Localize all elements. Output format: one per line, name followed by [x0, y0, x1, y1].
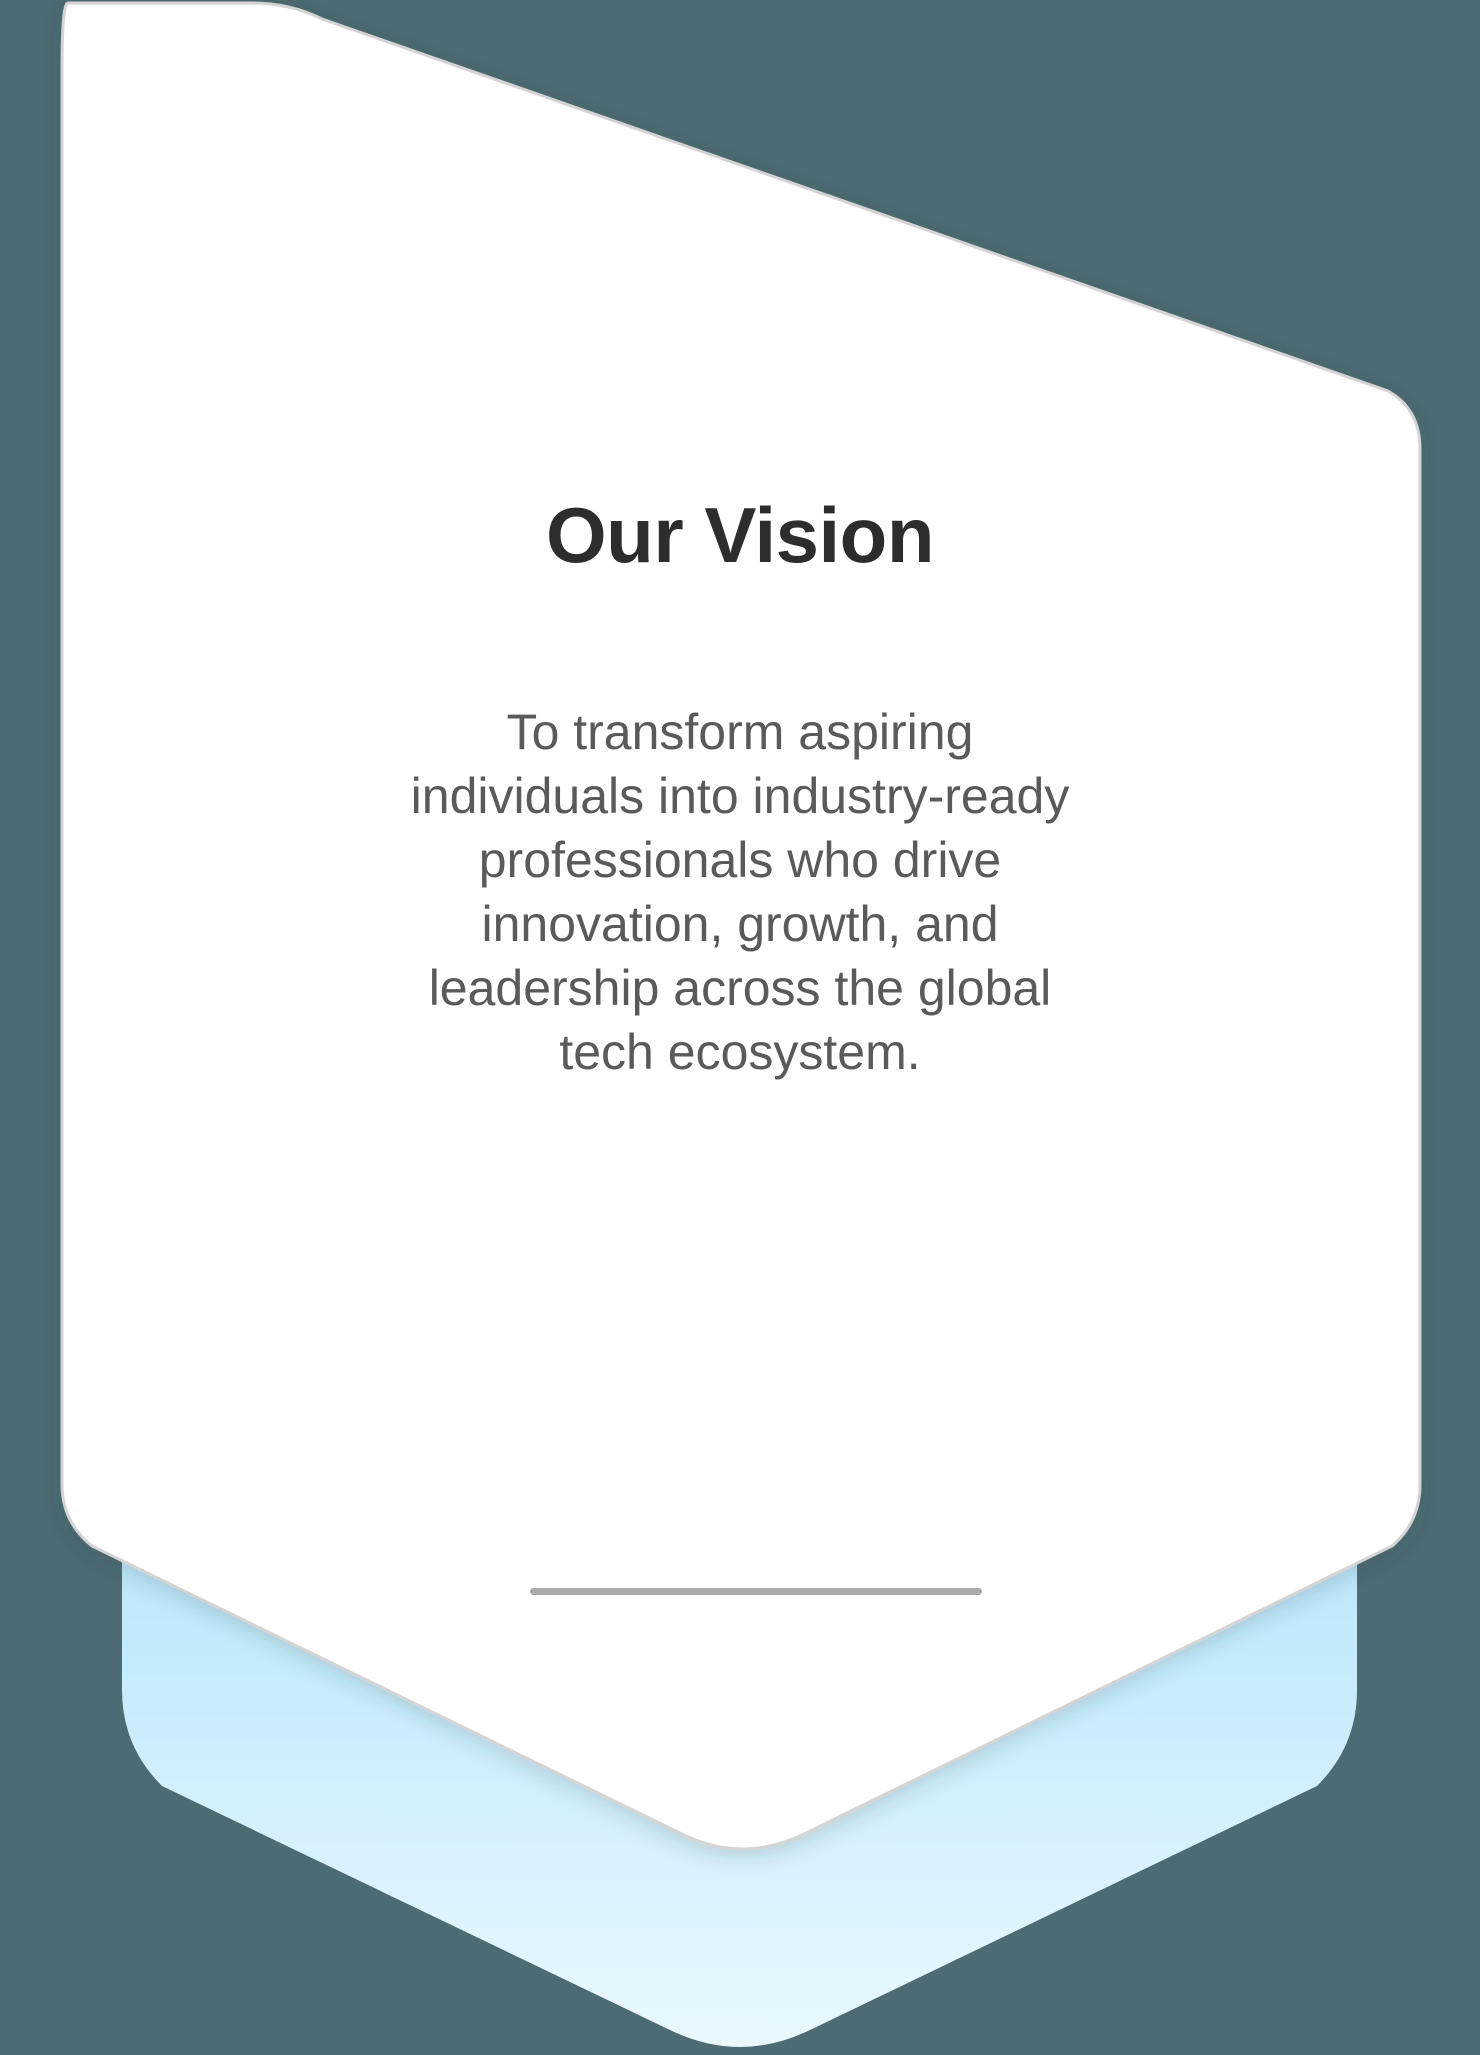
vision-card-stage: Our Vision To transform aspiring individ… [0, 0, 1480, 2055]
white-card-shape [62, 3, 1420, 1849]
card-artwork [0, 0, 1480, 2055]
